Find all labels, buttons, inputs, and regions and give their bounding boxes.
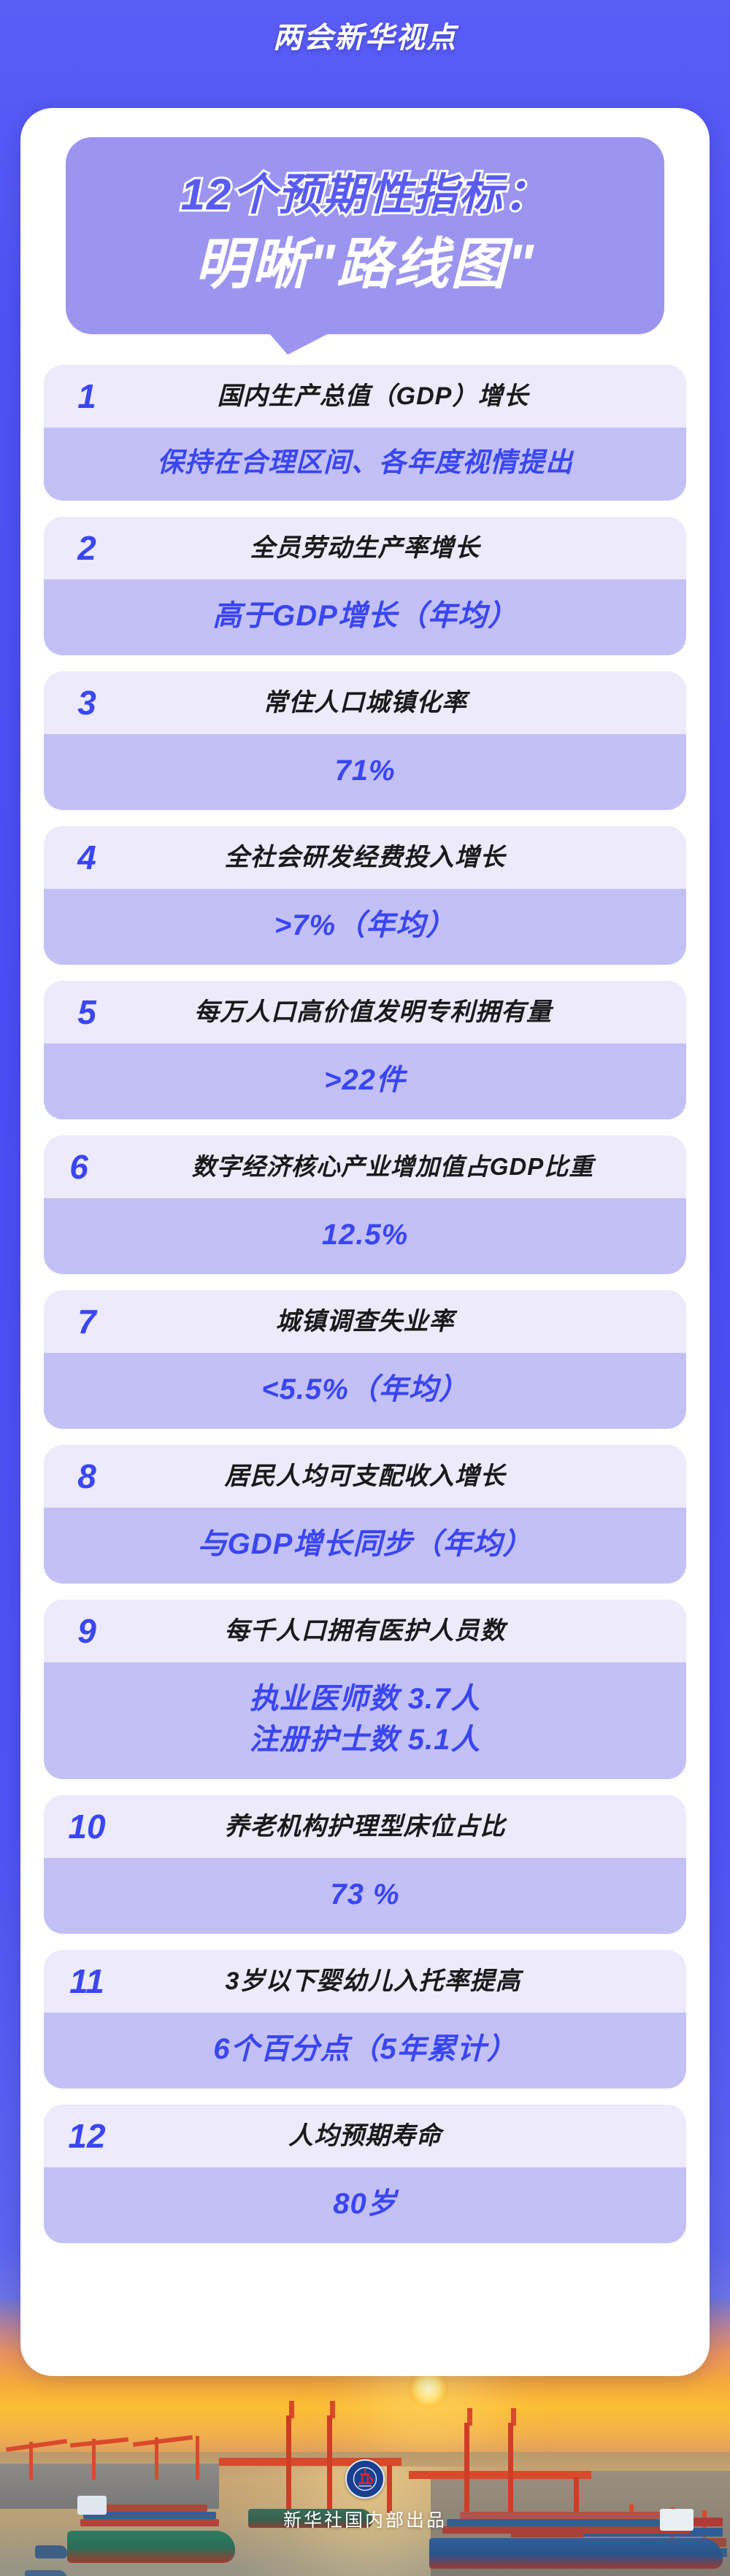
indicator-number: 2 xyxy=(44,528,130,568)
indicator-card: 8居民人均可支配收入增长与GDP增长同步（年均） xyxy=(44,1445,686,1584)
indicator-card: 7城镇调查失业率<5.5%（年均） xyxy=(44,1290,686,1429)
indicator-card-header: 10养老机构护理型床位占比 xyxy=(44,1795,686,1858)
indicator-value: 73 % xyxy=(44,1858,686,1934)
indicator-card: 4全社会研发经费投入增长>7%（年均） xyxy=(44,826,686,965)
indicator-title: 人均预期寿命 xyxy=(130,2121,686,2152)
indicator-card-header: 9每千人口拥有医护人员数 xyxy=(44,1600,686,1662)
indicator-value: 80岁 xyxy=(44,2167,686,2243)
indicator-number: 1 xyxy=(44,377,130,416)
container-ship-right xyxy=(429,2538,723,2569)
indicator-value-line: >7%（年均） xyxy=(55,905,675,946)
indicator-card-header: 5每万人口高价值发明专利拥有量 xyxy=(44,981,686,1044)
indicator-number: 3 xyxy=(44,683,130,722)
indicator-title: 城镇调查失业率 xyxy=(130,1306,686,1338)
xinhua-logo-icon xyxy=(345,2459,385,2499)
indicator-title: 每千人口拥有医护人员数 xyxy=(130,1616,686,1647)
indicator-card: 2全员劳动生产率增长高于GDP增长（年均） xyxy=(44,517,686,655)
indicator-value-line: 高于GDP增长（年均） xyxy=(55,595,675,636)
indicator-card: 6数字经济核心产业增加值占GDP比重12.5% xyxy=(44,1135,686,1274)
indicator-value-line: 73 % xyxy=(55,1874,675,1915)
indicator-value-line: >22件 xyxy=(55,1060,675,1100)
footer-credit: 新华社国内部出品 xyxy=(0,2459,730,2532)
indicator-card-header: 4全社会研发经费投入增长 xyxy=(44,826,686,889)
indicator-card: 12人均预期寿命80岁 xyxy=(44,2105,686,2243)
indicator-title: 每万人口高价值发明专利拥有量 xyxy=(130,997,686,1028)
indicator-value: 与GDP增长同步（年均） xyxy=(44,1508,686,1584)
indicator-card: 10养老机构护理型床位占比73 % xyxy=(44,1795,686,1934)
indicator-card-header: 7城镇调查失业率 xyxy=(44,1290,686,1353)
indicator-title: 全员劳动生产率增长 xyxy=(130,533,686,564)
indicator-value: <5.5%（年均） xyxy=(44,1353,686,1429)
indicator-value-line: 注册护士数 5.1人 xyxy=(55,1719,675,1760)
indicator-value-line: 与GDP增长同步（年均） xyxy=(55,1524,675,1565)
header-bar: 两会新华视点 xyxy=(0,0,730,70)
indicator-value-line: 71% xyxy=(55,750,675,791)
title-line-2: 明晰"路线图" xyxy=(66,219,664,299)
indicator-value: 保持在合理区间、各年度视情提出 xyxy=(44,428,686,501)
indicator-number: 12 xyxy=(44,2116,130,2156)
indicator-number: 10 xyxy=(44,1807,130,1846)
indicator-number: 6 xyxy=(44,1147,114,1187)
title-line-1: 12个预期性指标： xyxy=(66,159,664,223)
indicator-title: 养老机构护理型床位占比 xyxy=(130,1811,686,1843)
indicator-number: 11 xyxy=(44,1962,130,2001)
indicator-value-line: 80岁 xyxy=(55,2183,675,2224)
indicator-card-header: 113岁以下婴幼儿入托率提高 xyxy=(44,1950,686,2013)
tug-boat xyxy=(35,2545,67,2558)
indicator-card-header: 3常住人口城镇化率 xyxy=(44,671,686,734)
indicator-number: 4 xyxy=(44,838,130,877)
indicator-value-line: 保持在合理区间、各年度视情提出 xyxy=(55,444,675,482)
indicator-value-line: 6个百分点（5年累计） xyxy=(55,2029,675,2070)
indicator-value-line: <5.5%（年均） xyxy=(55,1369,675,1410)
indicator-title: 居民人均可支配收入增长 xyxy=(130,1461,686,1492)
indicator-title: 数字经济核心产业增加值占GDP比重 xyxy=(114,1152,686,1181)
indicator-card-header: 1国内生产总值（GDP）增长 xyxy=(44,365,686,428)
indicator-value: >22件 xyxy=(44,1044,686,1119)
indicator-card: 5每万人口高价值发明专利拥有量>22件 xyxy=(44,981,686,1119)
indicator-card-header: 8居民人均可支配收入增长 xyxy=(44,1445,686,1508)
indicator-value-line: 12.5% xyxy=(55,1214,675,1255)
indicator-number: 9 xyxy=(44,1611,130,1651)
container-ship-left xyxy=(67,2531,235,2563)
indicator-value-line: 执业医师数 3.7人 xyxy=(55,1678,675,1719)
indicator-card: 113岁以下婴幼儿入托率提高6个百分点（5年累计） xyxy=(44,1950,686,2089)
tug-boat xyxy=(25,2570,67,2576)
indicator-value: >7%（年均） xyxy=(44,889,686,965)
indicator-card: 1国内生产总值（GDP）增长保持在合理区间、各年度视情提出 xyxy=(44,365,686,501)
indicator-number: 8 xyxy=(44,1457,130,1496)
credit-text: 新华社国内部出品 xyxy=(0,2506,730,2532)
indicator-title: 常住人口城镇化率 xyxy=(130,687,686,719)
indicator-value: 71% xyxy=(44,734,686,810)
indicator-value: 执业医师数 3.7人注册护士数 5.1人 xyxy=(44,1662,686,1779)
page-title: 两会新华视点 xyxy=(273,14,457,56)
indicator-value: 12.5% xyxy=(44,1198,686,1274)
title-bubble: 12个预期性指标： 明晰"路线图" xyxy=(66,137,664,334)
indicator-value: 高于GDP增长（年均） xyxy=(44,579,686,655)
indicator-card-header: 6数字经济核心产业增加值占GDP比重 xyxy=(44,1135,686,1198)
indicator-title: 国内生产总值（GDP）增长 xyxy=(130,381,686,412)
indicator-card: 3常住人口城镇化率71% xyxy=(44,671,686,810)
indicator-title: 3岁以下婴幼儿入托率提高 xyxy=(130,1966,686,1997)
indicator-number: 5 xyxy=(44,992,130,1032)
indicator-title: 全社会研发经费投入增长 xyxy=(130,842,686,874)
indicator-card: 9每千人口拥有医护人员数执业医师数 3.7人注册护士数 5.1人 xyxy=(44,1600,686,1779)
indicator-list: 1国内生产总值（GDP）增长保持在合理区间、各年度视情提出2全员劳动生产率增长高… xyxy=(44,365,686,2259)
indicator-number: 7 xyxy=(44,1302,130,1341)
indicator-value: 6个百分点（5年累计） xyxy=(44,2013,686,2089)
indicator-card-header: 2全员劳动生产率增长 xyxy=(44,517,686,579)
indicator-card-header: 12人均预期寿命 xyxy=(44,2105,686,2167)
